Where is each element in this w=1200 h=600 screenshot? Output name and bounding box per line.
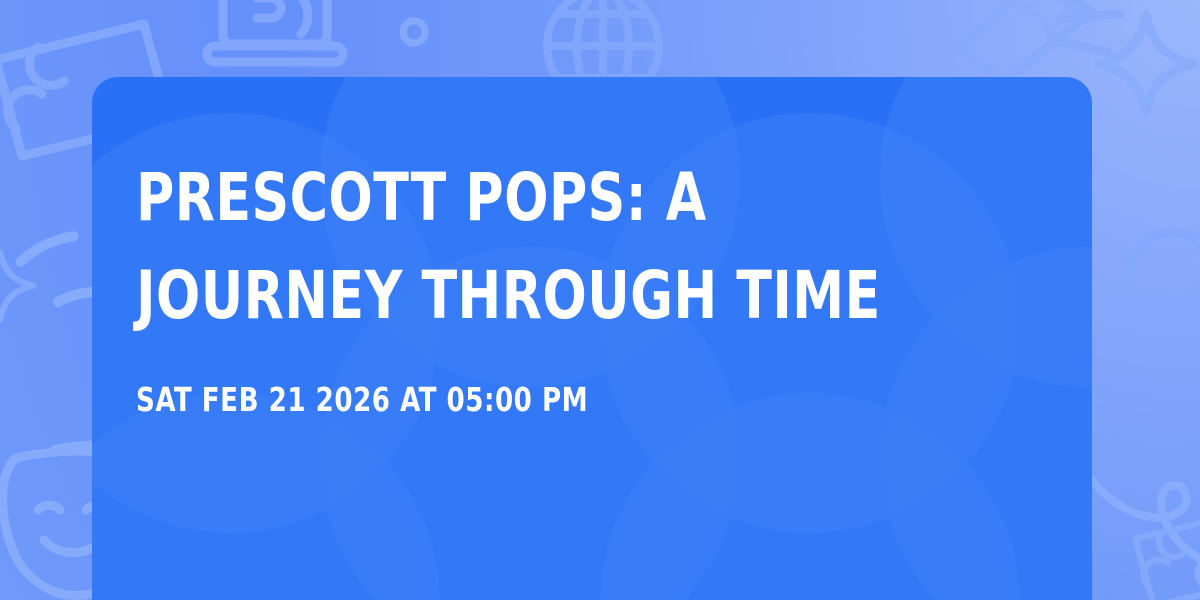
event-card: Prescott Pops: A Journey Through Time Sa… [92,77,1092,600]
event-datetime: Sat Feb 21 2026 at 05:00 PM [136,381,939,419]
card-decor-circle [92,393,440,600]
card-decor-circle [600,393,1020,600]
event-banner: Prescott Pops: A Journey Through Time Sa… [0,0,1200,600]
event-title: Prescott Pops: A Journey Through Time [136,149,939,345]
event-card-content: Prescott Pops: A Journey Through Time Sa… [136,149,1048,419]
